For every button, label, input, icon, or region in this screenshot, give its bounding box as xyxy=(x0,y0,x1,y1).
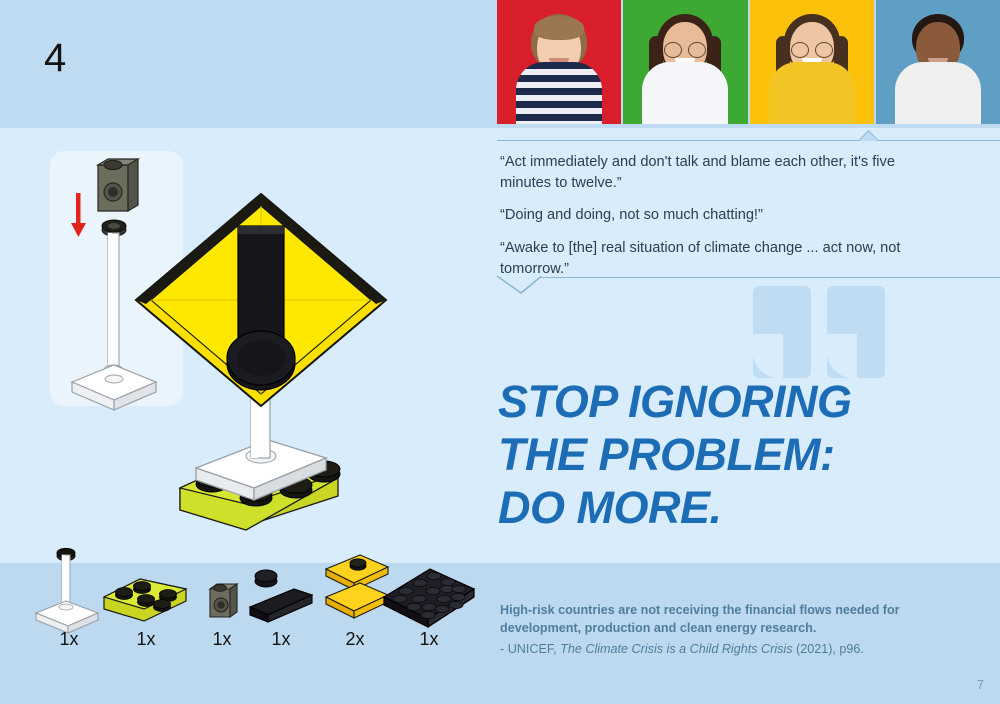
citation-title: The Climate Crisis is a Child Rights Cri… xyxy=(560,642,792,656)
page-number: 7 xyxy=(977,677,984,692)
footer-lead: High-risk countries are not receiving th… xyxy=(500,602,950,638)
red-down-arrow-icon xyxy=(71,193,86,237)
part-quantity: 1x xyxy=(271,629,290,650)
part-quantity: 1x xyxy=(212,629,231,650)
warning-sign-model xyxy=(128,178,418,538)
child-figure xyxy=(511,6,607,124)
quote-item: “Awake to [the] real situation of climat… xyxy=(500,238,920,279)
glasses-icon xyxy=(664,42,706,56)
photo-boy-white-shirt xyxy=(876,0,1000,124)
parts-list: 1x 1x xyxy=(26,545,446,675)
fringe xyxy=(534,16,584,40)
part-quantity: 1x xyxy=(59,629,78,650)
footer-citation: - UNICEF, The Climate Crisis is a Child … xyxy=(500,641,950,659)
citation-suffix: (2021), p96. xyxy=(793,642,864,656)
photo-girl-glasses-white-shirt xyxy=(623,0,747,124)
footer-note: High-risk countries are not receiving th… xyxy=(500,602,950,659)
striped-shirt xyxy=(516,62,602,124)
headline: STOP IGNORING THE PROBLEM: DO MORE. xyxy=(498,375,948,534)
step-number: 4 xyxy=(44,38,66,78)
yellow-warning-sign xyxy=(136,194,386,406)
part-lime-round-corner-plate: 1x xyxy=(96,545,196,634)
child-figure xyxy=(637,6,733,124)
part-black-plate-4x4: 1x xyxy=(374,545,484,634)
child-figure xyxy=(764,6,860,124)
part-quantity: 1x xyxy=(136,629,155,650)
quote-item: “Act immediately and don't talk and blam… xyxy=(500,152,920,193)
headline-line-1: STOP IGNORING xyxy=(498,375,948,428)
glasses-icon xyxy=(791,42,833,56)
speech-notch-up-icon xyxy=(858,126,886,141)
part-quantity: 2x xyxy=(345,629,364,650)
headline-line-2: THE PROBLEM: xyxy=(498,428,948,481)
quote-item: “Doing and doing, not so much chatting!” xyxy=(500,205,920,226)
citation-prefix: - UNICEF, xyxy=(500,642,560,656)
quote-list: “Act immediately and don't talk and blam… xyxy=(500,152,920,280)
part-quantity: 1x xyxy=(419,629,438,650)
decorative-quotation-mark-icon xyxy=(745,286,905,382)
divider-top xyxy=(497,140,1000,141)
white-shirt xyxy=(642,62,728,124)
photo-strip xyxy=(497,0,1000,124)
photo-boy-striped-shirt xyxy=(497,0,621,124)
yellow-sweater xyxy=(769,62,855,124)
slide-page: 4 xyxy=(0,0,1000,704)
child-figure xyxy=(890,6,986,124)
headline-line-3: DO MORE. xyxy=(498,481,948,534)
photo-girl-glasses-yellow-sweater xyxy=(750,0,874,124)
white-shirt xyxy=(895,62,981,124)
